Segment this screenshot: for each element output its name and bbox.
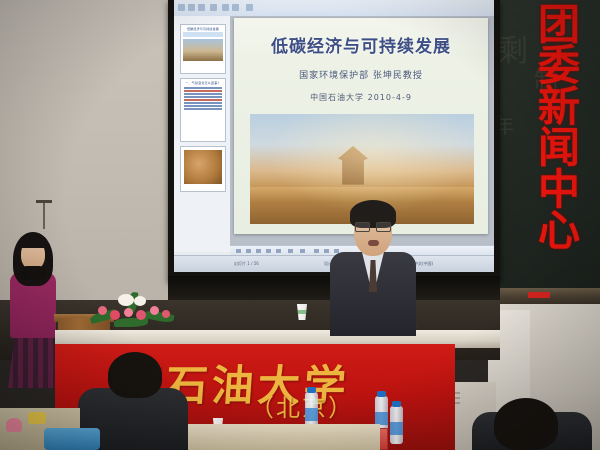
toolbar-icon-print[interactable] <box>210 4 217 11</box>
audience-member-1-head <box>108 352 162 398</box>
slide-thumbnail-1-title: 低碳经济与可持续发展 <box>181 25 225 31</box>
lecture-hall-photo: 剩 制 年 <box>0 0 600 450</box>
toolbar-icon-redo[interactable] <box>232 4 239 11</box>
slide-title: 低碳经济与可持续发展 <box>234 32 488 57</box>
slide-thumbnail-pane[interactable]: 低碳经济与可持续发展 一、气候变化怎么回事？ <box>174 16 231 252</box>
yellow-object <box>28 412 46 424</box>
toolbar-icon-save[interactable] <box>198 4 205 11</box>
presenter-speaker <box>330 200 420 340</box>
speaker-glasses <box>355 222 391 230</box>
watermark-char-5: 中 <box>526 169 592 210</box>
draw-icon-rect[interactable] <box>266 249 271 253</box>
draw-icon-line[interactable] <box>246 249 251 253</box>
toolbar-icon-open[interactable] <box>188 4 195 11</box>
slide-thumbnail-2[interactable]: 一、气候变化怎么回事？ <box>180 78 226 142</box>
toolbar-icon-slideshow[interactable] <box>246 4 253 11</box>
watermark-char-1: 团 <box>526 4 592 45</box>
slide-footer: 中国石油大学 2010-4-9 <box>234 92 488 103</box>
slide-thumbnail-1[interactable]: 低碳经济与可持续发展 <box>180 24 226 74</box>
host-scarf <box>20 266 46 280</box>
draw-icon-oval[interactable] <box>276 249 281 253</box>
toolbar-icon-new[interactable] <box>178 4 185 11</box>
wall-hook-post <box>43 203 45 229</box>
thumb-subtitle-band <box>183 32 223 37</box>
pink-object <box>6 418 22 432</box>
thumb-image-3 <box>184 150 222 184</box>
flower-arrangement-left <box>88 288 180 330</box>
draw-icon-linecolor[interactable] <box>324 249 329 253</box>
status-slide-counter: 幻灯片 1 / 56 <box>234 261 259 267</box>
slide-thumbnail-2-title: 一、气候变化怎么回事？ <box>181 79 225 85</box>
thumb-bullet-list <box>181 85 225 113</box>
blue-bag <box>44 428 100 450</box>
host-skirt <box>8 332 60 388</box>
draw-icon-wordart[interactable] <box>300 249 305 253</box>
audience-member-2-head <box>494 398 558 450</box>
powerpoint-toolbar[interactable] <box>174 0 494 17</box>
draw-icon-fillcolor[interactable] <box>314 249 319 253</box>
draw-icon-textbox[interactable] <box>288 249 293 253</box>
slide-thumbnail-3[interactable] <box>180 146 226 192</box>
toolbar-icon-undo[interactable] <box>222 4 229 11</box>
watermark-char-2: 委 <box>526 45 592 86</box>
slide-subtitle: 国家环境保护部 张坤民教授 <box>234 68 488 81</box>
water-bottle-3 <box>390 406 403 444</box>
thumb-image <box>183 39 223 61</box>
watermark-char-6: 心 <box>526 210 592 251</box>
draw-icon-select[interactable] <box>236 249 241 253</box>
draw-icon-arrow[interactable] <box>256 249 261 253</box>
news-center-watermark: 团 委 新 闻 中 心 <box>526 4 592 251</box>
banner-sub-text: （北京） <box>250 388 354 423</box>
chalk-box <box>528 292 550 298</box>
host-fringe <box>19 234 47 248</box>
watermark-char-3: 新 <box>526 86 592 127</box>
speaker-mouth <box>368 240 379 246</box>
watermark-char-4: 闻 <box>526 127 592 168</box>
